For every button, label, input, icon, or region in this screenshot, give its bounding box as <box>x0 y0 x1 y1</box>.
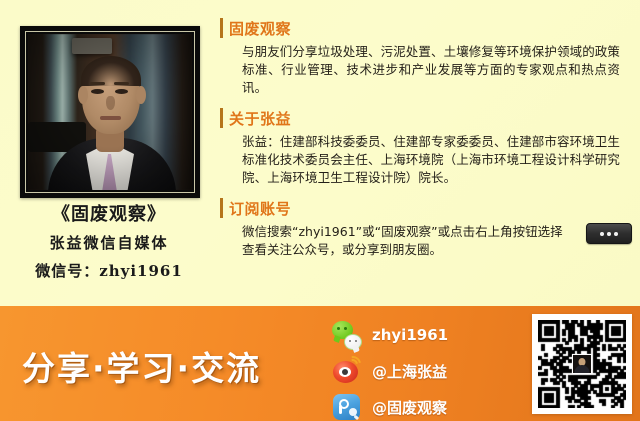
wechat-id-text: 微信号：zhyi1961 <box>0 258 218 284</box>
tencent-weibo-icon <box>332 392 362 421</box>
tencent-icon-stem <box>339 405 342 414</box>
weibo-icon <box>332 356 362 386</box>
section-body: 微信搜索“zhyi1961”或“固废观察”或点击右上角按钮选择查看关注公众号，或… <box>242 223 572 259</box>
section-header: 订阅账号 <box>220 196 632 220</box>
portrait-photo <box>28 34 192 190</box>
info-sections: 固废观察 与朋友们分享垃圾处理、污泥处置、土壤修复等环境保护领域的政策标准、行业… <box>220 16 632 268</box>
section-body: 与朋友们分享垃圾处理、污泥处置、土壤修复等环境保护领域的政策标准、行业管理、技术… <box>242 43 620 97</box>
more-dot-icon <box>614 232 618 236</box>
subscribe-body-wrap: 微信搜索“zhyi1961”或“固废观察”或点击右上角按钮选择查看关注公众号，或… <box>242 223 632 259</box>
portrait-photo-frame <box>20 26 200 198</box>
qr-avatar-body <box>575 365 590 373</box>
qr-code-container[interactable] <box>532 314 632 414</box>
more-dot-icon <box>600 232 604 236</box>
accent-bar-icon <box>220 108 223 128</box>
section-body: 张益：住建部科技委委员、住建部专家委委员、住建部市容环境卫生标准化技术委员会主任… <box>242 133 620 187</box>
wechat-icon <box>332 320 362 350</box>
account-subtitle: 张益微信自媒体 <box>0 230 218 256</box>
social-row-tencent-weibo[interactable]: @固废观察 <box>332 390 497 421</box>
social-row-wechat[interactable]: zhyi1961 <box>332 318 497 352</box>
wechat-handle: zhyi1961 <box>372 326 448 344</box>
qr-center-avatar <box>572 354 592 374</box>
section-title: 订阅账号 <box>229 198 291 219</box>
accent-bar-icon <box>220 18 223 38</box>
section-title: 固废观察 <box>229 18 291 39</box>
wechat-eye-dot-small <box>349 340 352 343</box>
section-header: 关于张益 <box>220 106 632 130</box>
more-dot-icon <box>607 232 611 236</box>
bottom-banner: 分享·学习·交流 zhyi1961 <box>0 306 640 421</box>
wechat-bubble-small <box>344 334 362 350</box>
section-solid-waste-observation: 固废观察 与朋友们分享垃圾处理、污泥处置、土壤修复等环境保护领域的政策标准、行业… <box>220 16 632 97</box>
social-accounts-list: zhyi1961 @上海张益 @固废观 <box>332 318 497 421</box>
wechat-public-account-card: 《固废观察》 张益微信自媒体 微信号：zhyi1961 固废观察 与朋友们分享垃… <box>0 0 640 421</box>
accent-bar-icon <box>220 198 223 218</box>
more-options-button[interactable] <box>586 223 632 244</box>
tencent-icon-magnifier <box>349 408 357 416</box>
profile-column: 《固废观察》 张益微信自媒体 微信号：zhyi1961 <box>0 0 218 306</box>
banner-slogan: 分享·学习·交流 <box>22 342 261 390</box>
wechat-eye-dot-small <box>355 340 358 343</box>
tencent-weibo-handle: @固废观察 <box>372 397 447 418</box>
wechat-eye-dot <box>344 327 347 330</box>
section-header: 固废观察 <box>220 16 632 40</box>
section-title: 关于张益 <box>229 108 291 129</box>
account-name: 《固废观察》 <box>0 202 218 228</box>
wechat-eye-dot <box>337 327 340 330</box>
profile-captions: 《固废观察》 张益微信自媒体 微信号：zhyi1961 <box>0 202 218 284</box>
section-about-zhang-yi: 关于张益 张益：住建部科技委委员、住建部专家委委员、住建部市容环境卫生标准化技术… <box>220 106 632 187</box>
social-row-weibo[interactable]: @上海张益 <box>332 354 497 388</box>
section-subscribe-account: 订阅账号 微信搜索“zhyi1961”或“固废观察”或点击右上角按钮选择查看关注… <box>220 196 632 259</box>
weibo-handle: @上海张益 <box>372 361 447 382</box>
portrait-vignette <box>28 34 192 190</box>
